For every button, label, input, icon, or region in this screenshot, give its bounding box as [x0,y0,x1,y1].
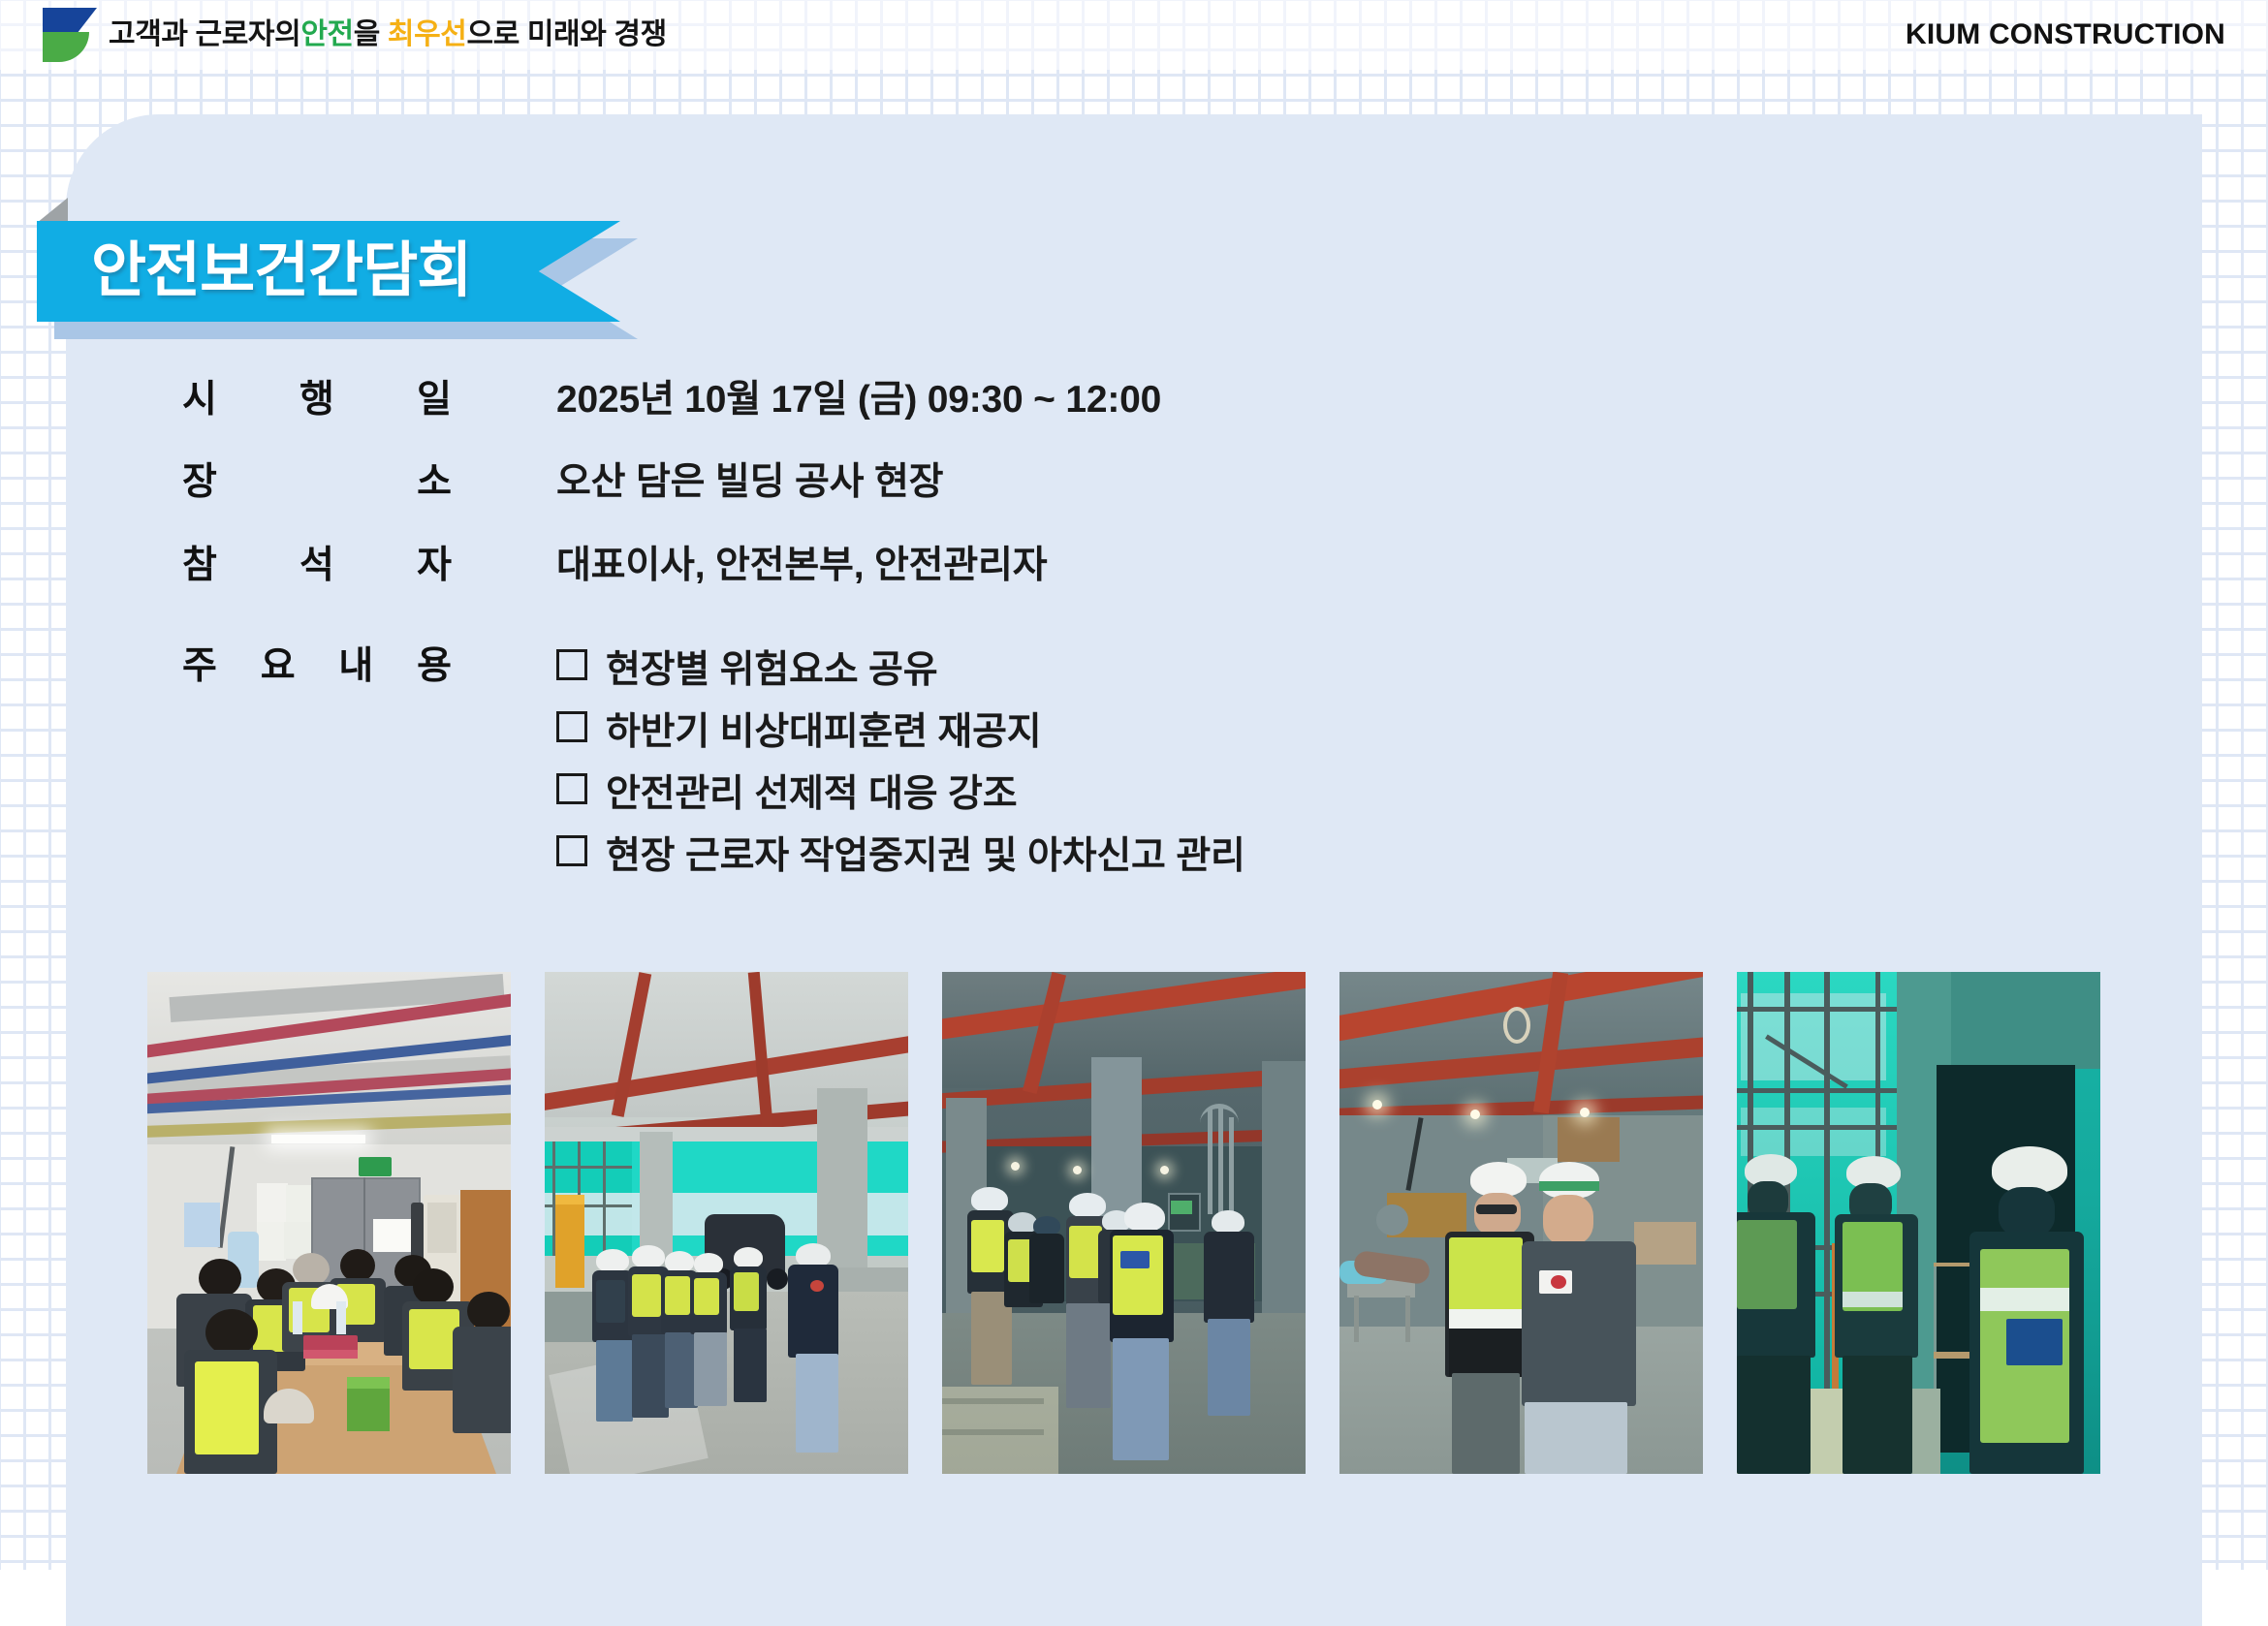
detail-label-topics: 주 요 내 용 [182,640,452,694]
checkbox-empty-icon [556,835,587,866]
topic-text: 현장 근로자 작업중지권 및 아차신고 관리 [606,826,1245,888]
photo-site-discussion [1339,972,1703,1474]
topic-text: 현장별 위험요소 공유 [606,640,937,702]
label-char: 시 [182,373,217,427]
slogan-part-3: 을 [354,18,380,50]
page-title: 안전보건간담회 [91,229,471,314]
white-hard-hat-icon [1992,1146,2067,1193]
topic-item: 현장별 위험요소 공유 [556,640,1245,702]
label-char: 행 [299,373,334,427]
vest-company-label [2006,1319,2063,1365]
topic-text: 안전관리 선제적 대응 강조 [606,764,1017,826]
topic-item: 안전관리 선제적 대응 강조 [556,764,1245,826]
ribbon-fold-icon [37,198,68,223]
label-char: 내 [338,640,373,694]
page-header: 고객과 근로자의안전을 최우선으로 미래와 경쟁 KIUM CONSTRUCTI… [0,0,2268,70]
white-hard-hat-icon [1470,1162,1527,1197]
slogan-part-safety: 안전 [300,18,353,50]
label-char: 석 [299,539,334,593]
detail-value-attendees: 대표이사, 안전본부, 안전관리자 [556,539,1047,593]
detail-label-attendees: 참 석 자 [182,539,452,593]
logo-green-quarter-icon [43,32,89,62]
detail-row-attendees: 참 석 자 대표이사, 안전본부, 안전관리자 [182,539,1047,593]
exit-sign-icon [359,1157,392,1176]
brand-name: KIUM CONSTRUCTION [1906,15,2225,55]
page-background: 고객과 근로자의안전을 최우선으로 미래와 경쟁 KIUM CONSTRUCTI… [0,0,2268,1570]
label-char: 일 [417,373,452,427]
title-ribbon: 안전보건간담회 [37,221,638,339]
detail-row-topics: 주 요 내 용 현장별 위험요소 공유 하반기 비상대피훈련 재공지 안전관리 … [182,640,1245,888]
topic-text: 하반기 비상대피훈련 재공지 [606,702,1041,764]
topic-item: 현장 근로자 작업중지권 및 아차신고 관리 [556,826,1245,888]
logo-blue-wedge-icon [43,8,97,33]
detail-label-date: 시 행 일 [182,373,452,427]
photo-column-inspection [942,972,1306,1474]
checkbox-empty-icon [556,773,587,804]
detail-row-date: 시 행 일 2025년 10월 17일 (금) 09:30 ~ 12:00 [182,373,1161,427]
label-char: 용 [417,640,452,694]
topic-list: 현장별 위험요소 공유 하반기 비상대피훈련 재공지 안전관리 선제적 대응 강… [556,640,1245,888]
detail-value-place: 오산 담은 빌딩 공사 현장 [556,455,943,510]
detail-value-date: 2025년 10월 17일 (금) 09:30 ~ 12:00 [556,373,1161,427]
checkbox-empty-icon [556,711,587,742]
company-slogan: 고객과 근로자의안전을 최우선으로 미래와 경쟁 [109,14,667,56]
kium-logo-mark-icon [43,8,97,62]
slogan-part-5: 으로 미래와 경쟁 [467,18,667,50]
photo-open-floor-brief [545,972,908,1474]
label-char: 소 [417,455,452,510]
label-char: 주 [182,640,217,694]
label-char: 자 [417,539,452,593]
slogan-part-priority: 최우선 [388,18,467,50]
checkbox-empty-icon [556,649,587,680]
white-hard-hat-icon [1539,1162,1599,1199]
label-char: 참 [182,539,217,593]
topic-item: 하반기 비상대피훈련 재공지 [556,702,1245,764]
label-char: 요 [261,640,296,694]
label-char: 장 [182,455,217,510]
detail-label-place: 장 소 [182,455,452,510]
photo-meeting-room [147,972,511,1474]
photo-strip [147,972,2132,1474]
photo-opening-check [1737,972,2100,1474]
detail-row-place: 장 소 오산 담은 빌딩 공사 현장 [182,455,943,510]
slogan-part-1: 고객과 근로자의 [109,18,300,50]
